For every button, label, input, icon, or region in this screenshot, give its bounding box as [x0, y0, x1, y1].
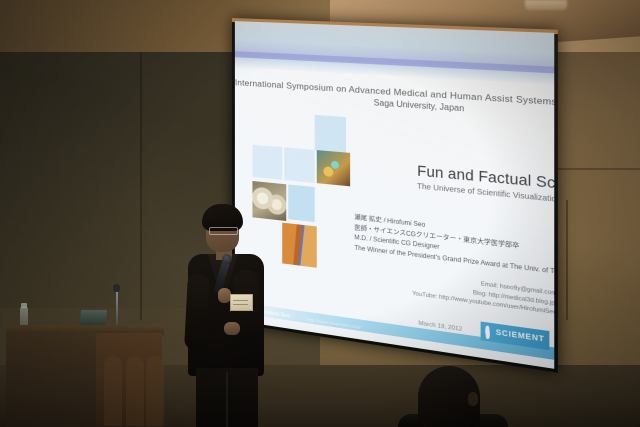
glasses-icon [209, 227, 238, 235]
slide-accent-stripe [235, 51, 554, 73]
mosaic-tile-blue-1 [315, 115, 346, 153]
microphone-stand [116, 288, 118, 328]
slide-content: International Symposium on Advanced Medi… [235, 21, 554, 369]
presentation-photo: International Symposium on Advanced Medi… [0, 0, 640, 427]
image-mosaic [252, 110, 406, 313]
name-badge [230, 294, 253, 311]
mosaic-tile-cg-neuro [317, 150, 350, 186]
mosaic-tile-blue-2 [252, 145, 282, 180]
badge-text-line-2 [233, 304, 248, 305]
brush-stroke-icon [483, 325, 493, 340]
podium-arch-3 [146, 356, 164, 426]
podium-microphone-icon [113, 284, 120, 292]
vessel-detail [298, 225, 304, 266]
logo-text: SCIEMENT [496, 329, 545, 344]
wall-left-panel-edge [140, 20, 142, 320]
audience-ear [468, 392, 478, 406]
projection-screen: International Symposium on Advanced Medi… [232, 18, 558, 373]
podium-arch-1 [104, 356, 122, 426]
slide-title-block: Fun and Factual Science The Universe of … [417, 163, 554, 204]
badge-text-line-1 [233, 300, 248, 301]
mosaic-tile-blue-4 [288, 184, 314, 222]
mosaic-tile-blue-3 [284, 147, 314, 183]
presenter [178, 196, 274, 427]
contact-block: Email: hseo9y@gmail.com Blog: http://med… [389, 268, 555, 318]
mosaic-tile-cg-vessel [282, 223, 317, 268]
door-seam-3 [566, 200, 568, 320]
slide-top-band [235, 21, 554, 84]
presenter-hand-lower [224, 322, 240, 335]
ceiling-light [525, 0, 567, 10]
presenter-arm-left [184, 273, 210, 350]
presenter-leg-separation [226, 372, 228, 427]
podium-arch-2 [126, 356, 144, 426]
